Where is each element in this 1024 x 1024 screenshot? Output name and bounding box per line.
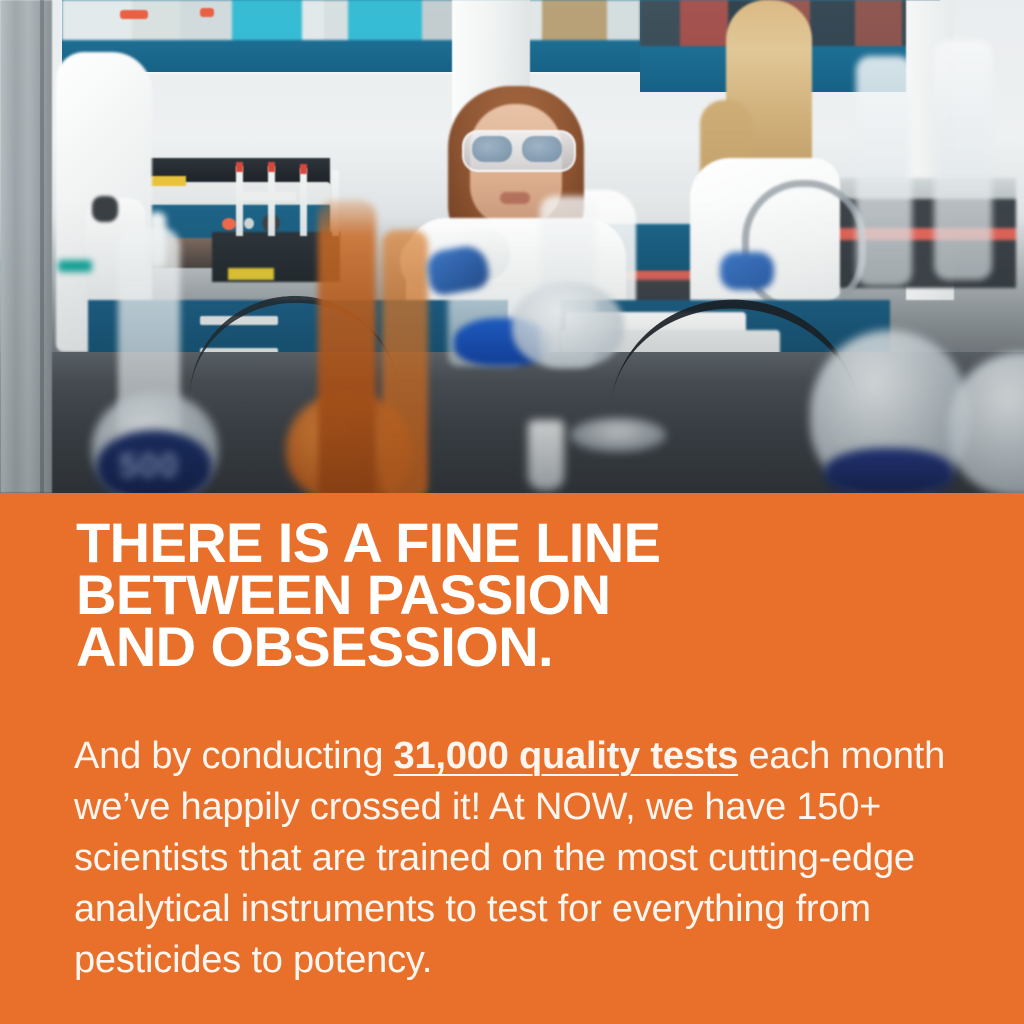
promotional-graphic: 500 THERE IS A FINE LINE BETWEEN PASSION… [0, 0, 1024, 1024]
pipette-tip-1 [236, 162, 243, 172]
pipette-1 [236, 166, 243, 236]
shelf-label-red-2 [200, 8, 214, 17]
instrument-display-slot [236, 192, 296, 201]
pipette-rack-label [228, 268, 274, 280]
scientist-center-mouth [500, 192, 530, 204]
body-copy: And by conducting 31,000 quality tests e… [74, 731, 946, 986]
watch-glass [570, 418, 666, 452]
body-copy-before: And by conducting [74, 735, 394, 777]
flask-bulb-center [512, 282, 624, 368]
flask-neck-right-1 [856, 56, 912, 286]
shelf-label-red-1 [120, 10, 148, 19]
instrument-yellow-strip [148, 176, 186, 186]
shelf-contents-left [62, 0, 662, 40]
orange-message-panel: THERE IS A FINE LINE BETWEEN PASSION AND… [0, 493, 1024, 1024]
pipette-tip-3 [300, 164, 307, 174]
test-tube-foreground [528, 420, 564, 490]
goggles-lens-left [472, 136, 512, 162]
nitrile-glove-right-hand [720, 252, 774, 290]
instrument-knob-small [244, 218, 254, 229]
blue-liquid-right [824, 448, 954, 493]
flask-volume-label: 500 [112, 448, 186, 484]
amber-flask-neck-2 [382, 230, 428, 493]
teal-cap-2 [58, 260, 92, 272]
goggles-lens-right [522, 136, 562, 162]
headline: THERE IS A FINE LINE BETWEEN PASSION AND… [76, 517, 976, 673]
pipette-3 [300, 168, 307, 236]
pipette-2 [268, 166, 275, 236]
stat-highlight-quality-tests: 31,000 quality tests [394, 735, 739, 777]
structural-pillar-left [0, 0, 52, 493]
pillar-seam [40, 0, 44, 493]
flask-neck-right-2 [934, 40, 992, 280]
laboratory-photo: 500 [0, 0, 1024, 493]
instrument-indicator-light [222, 218, 236, 230]
amber-flask-neck-1 [318, 200, 376, 493]
scientist-left-hand [92, 196, 118, 222]
flexible-hose [742, 180, 866, 314]
pipette-tip-2 [268, 162, 275, 172]
